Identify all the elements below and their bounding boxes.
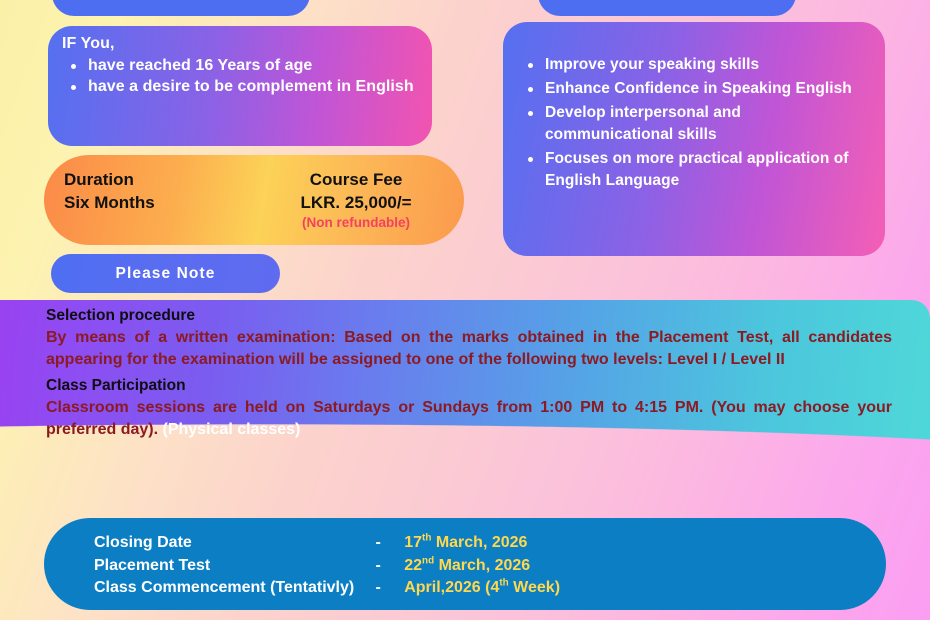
table-row: Class Commencement (Tentativly) - April,…: [94, 577, 560, 600]
date-value-suffix: th: [499, 578, 508, 589]
benefits-card: Improve your speaking skills Enhance Con…: [503, 22, 885, 256]
date-label: Class Commencement (Tentativly): [94, 577, 364, 600]
date-value-rest: Week): [509, 579, 560, 596]
fee-block: Course Fee LKR. 25,000/= (Non refundable…: [266, 169, 446, 232]
date-value-prefix: 17: [404, 534, 422, 551]
date-value-prefix: April,2026 (4: [404, 579, 499, 596]
list-item: Enhance Confidence in Speaking English: [519, 78, 869, 100]
class-participation-body: Classroom sessions are held on Saturdays…: [46, 397, 892, 440]
date-value-prefix: 22: [404, 557, 422, 574]
selection-procedure-body: By means of a written examination: Based…: [46, 327, 892, 370]
date-label: Placement Test: [94, 555, 364, 578]
date-dash: -: [364, 532, 392, 555]
date-value-rest: March, 2026: [434, 557, 530, 574]
duration-fee-card: Duration Six Months Course Fee LKR. 25,0…: [44, 155, 464, 245]
eligibility-list: have reached 16 Years of age have a desi…: [62, 55, 418, 97]
eligibility-card: IF You, have reached 16 Years of age hav…: [48, 26, 432, 146]
fee-label: Course Fee: [266, 169, 446, 192]
fee-amount: LKR. 25,000/=: [266, 192, 446, 215]
selection-procedure-heading: Selection procedure: [46, 306, 892, 326]
key-dates-table: Closing Date - 17th March, 2026 Placemen…: [94, 532, 560, 600]
date-label: Closing Date: [94, 532, 364, 555]
duration-block: Duration Six Months: [64, 169, 155, 215]
benefits-list: Improve your speaking skills Enhance Con…: [519, 54, 869, 192]
duration-value: Six Months: [64, 192, 155, 215]
please-note-label: Please Note: [116, 265, 216, 283]
date-dash: -: [364, 555, 392, 578]
date-value: 22nd March, 2026: [392, 555, 560, 578]
date-value-suffix: nd: [422, 555, 434, 566]
poster-canvas: IF You, have reached 16 Years of age hav…: [0, 0, 930, 620]
key-dates-card: Closing Date - 17th March, 2026 Placemen…: [44, 518, 886, 610]
physical-classes-tag: (Physical classes): [163, 421, 301, 438]
date-value: 17th March, 2026: [392, 532, 560, 555]
list-item: Develop interpersonal and communicationa…: [519, 102, 869, 146]
notes-content: Selection procedure By means of a writte…: [46, 306, 892, 446]
list-item: Improve your speaking skills: [519, 54, 869, 76]
date-value-suffix: th: [422, 533, 431, 544]
duration-label: Duration: [64, 169, 155, 192]
list-item: have a desire to be complement in Englis…: [62, 76, 418, 97]
list-item: Focuses on more practical application of…: [519, 148, 869, 192]
top-pill-right-decoration: [538, 0, 796, 16]
list-item: have reached 16 Years of age: [62, 55, 418, 76]
date-dash: -: [364, 577, 392, 600]
table-row: Closing Date - 17th March, 2026: [94, 532, 560, 555]
top-pill-left-decoration: [52, 0, 310, 16]
please-note-badge: Please Note: [51, 254, 280, 293]
date-value-rest: March, 2026: [431, 534, 527, 551]
table-row: Placement Test - 22nd March, 2026: [94, 555, 560, 578]
eligibility-lead: IF You,: [62, 35, 418, 53]
fee-note: (Non refundable): [266, 215, 446, 232]
date-value: April,2026 (4th Week): [392, 577, 560, 600]
class-participation-heading: Class Participation: [46, 376, 892, 396]
